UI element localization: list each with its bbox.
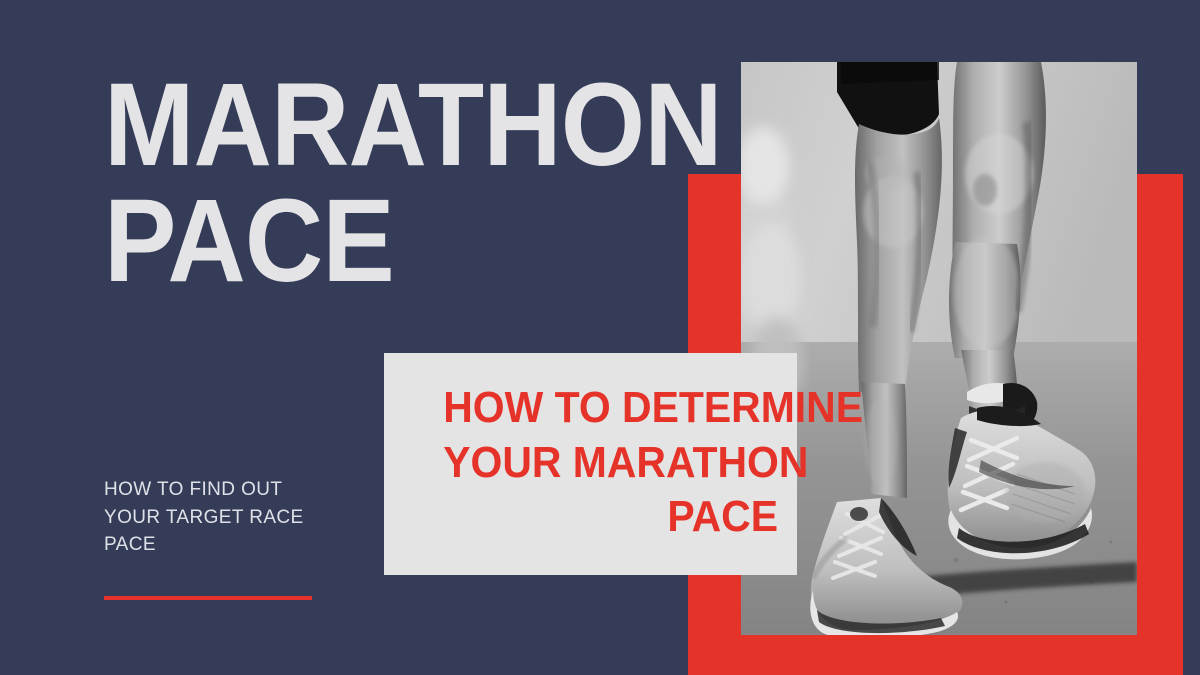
callout-line-1: HOW TO DETERMINE <box>443 381 778 436</box>
callout-line-3: PACE <box>443 490 778 545</box>
slide-canvas: MARATHON PACE HOW TO FIND OUT YOUR TARGE… <box>0 0 1200 675</box>
runner-photo <box>741 62 1137 635</box>
accent-rule <box>104 596 312 600</box>
title-line-2: PACE <box>104 184 619 300</box>
callout-card: HOW TO DETERMINE YOUR MARATHON PACE <box>384 353 797 575</box>
page-title: MARATHON PACE <box>104 68 619 299</box>
title-line-1: MARATHON <box>104 68 619 184</box>
subtitle-text: HOW TO FIND OUT YOUR TARGET RACE PACE <box>104 476 336 559</box>
callout-line-2: YOUR MARATHON <box>443 436 778 491</box>
callout-heading: HOW TO DETERMINE YOUR MARATHON PACE <box>443 381 778 545</box>
